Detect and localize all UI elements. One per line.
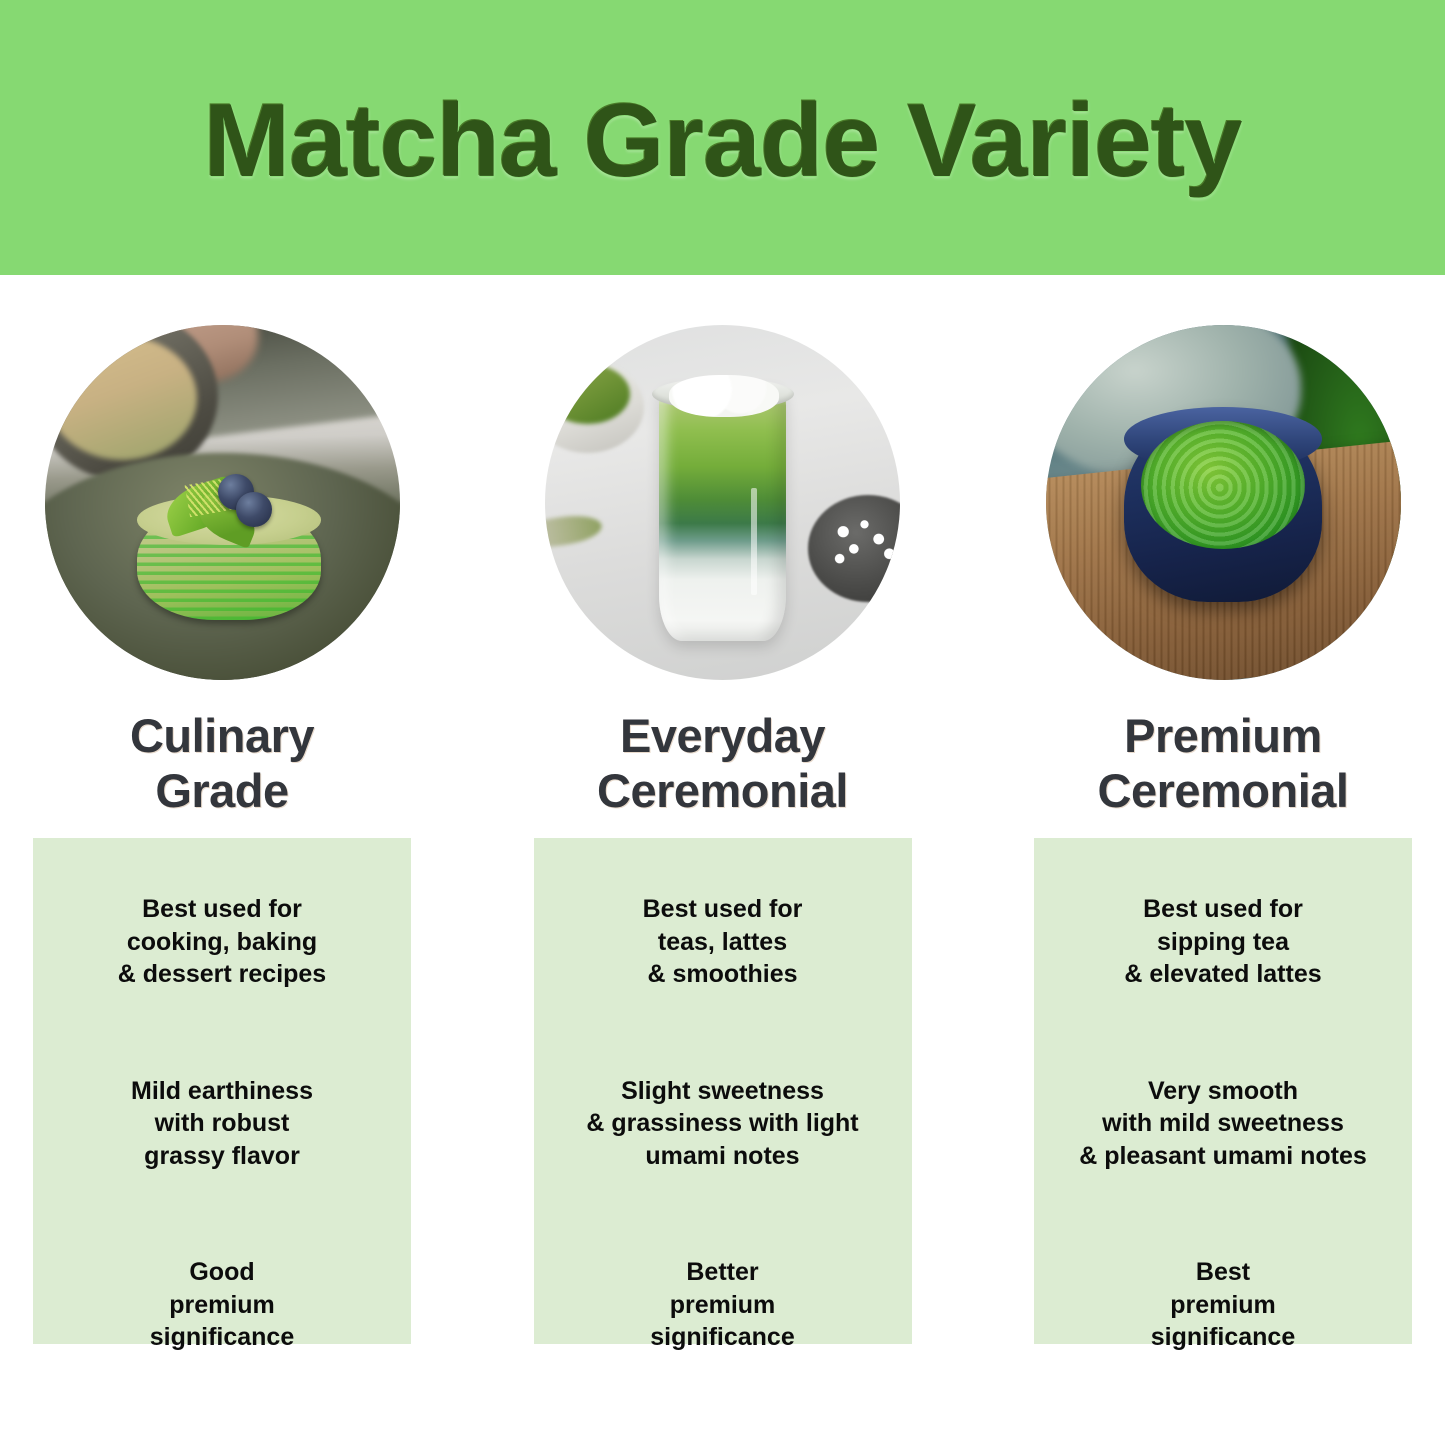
info-line: cooking, baking xyxy=(41,926,403,959)
grade-column-culinary: Culinary Grade Best used for cooking, ba… xyxy=(33,275,411,1445)
iced-matcha-latte-photo xyxy=(545,325,900,680)
info-line: premium xyxy=(1042,1289,1404,1322)
info-panel-culinary: Best used for cooking, baking & dessert … xyxy=(33,838,411,1344)
info-line: Best xyxy=(1042,1256,1404,1289)
best-used-for-block: Best used for teas, lattes & smoothies xyxy=(542,893,904,991)
info-line: & dessert recipes xyxy=(41,958,403,991)
info-line: & grassiness with light xyxy=(542,1107,904,1140)
flavor-profile-block: Slight sweetness & grassiness with light… xyxy=(542,1075,904,1173)
info-line: significance xyxy=(1042,1321,1404,1354)
info-line: with robust xyxy=(41,1107,403,1140)
grade-heading-line-1: Everyday xyxy=(597,708,848,763)
info-line: Best used for xyxy=(542,893,904,926)
grade-heading-line-2: Ceremonial xyxy=(1098,763,1349,818)
grade-columns: Culinary Grade Best used for cooking, ba… xyxy=(0,275,1445,1445)
matcha-chawan-photo xyxy=(1046,325,1401,680)
grade-heading-line-2: Grade xyxy=(130,763,314,818)
info-line: & elevated lattes xyxy=(1042,958,1404,991)
info-line: teas, lattes xyxy=(542,926,904,959)
page-title: Matcha Grade Variety xyxy=(204,89,1242,193)
flavor-profile-block: Very smooth with mild sweetness & pleasa… xyxy=(1042,1075,1404,1173)
info-line: with mild sweetness xyxy=(1042,1107,1404,1140)
grade-heading-everyday: Everyday Ceremonial xyxy=(597,708,848,826)
info-panel-premium: Best used for sipping tea & elevated lat… xyxy=(1034,838,1412,1344)
grade-column-everyday: Everyday Ceremonial Best used for teas, … xyxy=(534,275,912,1445)
info-line: premium xyxy=(542,1289,904,1322)
grade-heading-line-1: Premium xyxy=(1098,708,1349,763)
matcha-crepe-cake-photo xyxy=(45,325,400,680)
info-line: Better xyxy=(542,1256,904,1289)
info-line: Best used for xyxy=(41,893,403,926)
grade-heading-line-2: Ceremonial xyxy=(597,763,848,818)
info-line: Good xyxy=(41,1256,403,1289)
premium-significance-block: Better premium significance xyxy=(542,1256,904,1354)
info-line: Best used for xyxy=(1042,893,1404,926)
grade-heading-culinary: Culinary Grade xyxy=(130,708,314,826)
info-line: premium xyxy=(41,1289,403,1322)
header-banner: Matcha Grade Variety xyxy=(0,0,1445,275)
premium-significance-block: Best premium significance xyxy=(1042,1256,1404,1354)
info-line: Mild earthiness xyxy=(41,1075,403,1108)
info-line: Very smooth xyxy=(1042,1075,1404,1108)
info-panel-everyday: Best used for teas, lattes & smoothies S… xyxy=(534,838,912,1344)
best-used-for-block: Best used for sipping tea & elevated lat… xyxy=(1042,893,1404,991)
grade-heading-line-1: Culinary xyxy=(130,708,314,763)
info-line: sipping tea xyxy=(1042,926,1404,959)
info-line: & smoothies xyxy=(542,958,904,991)
grade-column-premium: Premium Ceremonial Best used for sipping… xyxy=(1034,275,1412,1445)
info-line: grassy flavor xyxy=(41,1140,403,1173)
best-used-for-block: Best used for cooking, baking & dessert … xyxy=(41,893,403,991)
premium-significance-block: Good premium significance xyxy=(41,1256,403,1354)
info-line: significance xyxy=(41,1321,403,1354)
info-line: & pleasant umami notes xyxy=(1042,1140,1404,1173)
info-line: Slight sweetness xyxy=(542,1075,904,1108)
flavor-profile-block: Mild earthiness with robust grassy flavo… xyxy=(41,1075,403,1173)
grade-heading-premium: Premium Ceremonial xyxy=(1098,708,1349,826)
info-line: umami notes xyxy=(542,1140,904,1173)
info-line: significance xyxy=(542,1321,904,1354)
